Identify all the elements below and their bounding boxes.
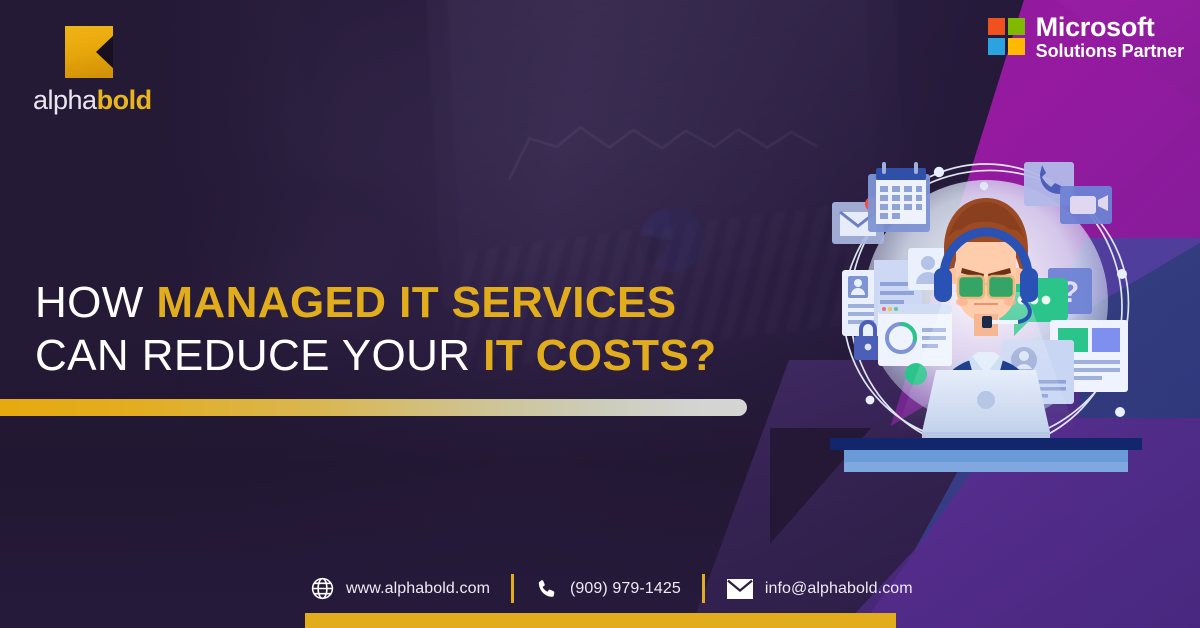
marketing-banner: ?: [0, 0, 1200, 628]
headline-line-2: CAN REDUCE YOUR IT COSTS?: [35, 329, 795, 382]
headline-line-2-gold: IT COSTS?: [483, 331, 716, 380]
microsoft-square-yellow: [1008, 38, 1025, 55]
contact-divider-1: [511, 574, 514, 603]
website-text: www.alphabold.com: [346, 580, 490, 598]
microsoft-square-blue: [988, 38, 1005, 55]
microsoft-square-green: [1008, 18, 1025, 35]
bottom-gold-accent-bar: [305, 613, 896, 628]
alphabold-chevron-mark-icon: [65, 26, 113, 78]
contact-website[interactable]: www.alphabold.com: [310, 576, 490, 601]
headline-line-1-light: HOW: [35, 278, 156, 327]
headline-line-2-light: CAN REDUCE YOUR: [35, 331, 483, 380]
video-camera-card-icon: [1060, 186, 1112, 224]
contact-bar: www.alphabold.com (909) 979-1425 info@al…: [310, 574, 913, 603]
contact-email[interactable]: info@alphabold.com: [726, 578, 913, 600]
microsoft-solutions-partner-badge: Microsoft Solutions Partner: [988, 13, 1184, 61]
globe-icon: [310, 576, 335, 601]
laptop-icon: [922, 370, 1050, 438]
headline-line-1: HOW MANAGED IT SERVICES: [35, 276, 795, 329]
phone-icon: [535, 577, 559, 601]
page-title: HOW MANAGED IT SERVICES CAN REDUCE YOUR …: [35, 276, 795, 382]
support-agent-illustration: ?: [826, 142, 1146, 472]
gold-gradient-accent-bar: [0, 399, 747, 416]
headline-line-1-gold: MANAGED IT SERVICES: [156, 278, 676, 327]
microsoft-square-red: [988, 18, 1005, 35]
contact-phone[interactable]: (909) 979-1425: [535, 577, 681, 601]
email-text: info@alphabold.com: [765, 580, 913, 598]
microsoft-logo-icon: [988, 18, 1025, 55]
alphabold-wordmark: alphabold: [33, 85, 173, 116]
alphabold-logo[interactable]: alphabold: [33, 26, 173, 116]
envelope-icon: [726, 578, 754, 600]
logo-alpha-text: alpha: [33, 85, 97, 115]
calendar-card-icon: [868, 162, 930, 232]
phone-text: (909) 979-1425: [570, 580, 681, 598]
microsoft-name: Microsoft: [1036, 13, 1184, 42]
contact-divider-2: [702, 574, 705, 603]
desk-icon: [830, 438, 1142, 472]
logo-bold-text: bold: [97, 85, 152, 115]
microsoft-partner-subtitle: Solutions Partner: [1036, 42, 1184, 61]
